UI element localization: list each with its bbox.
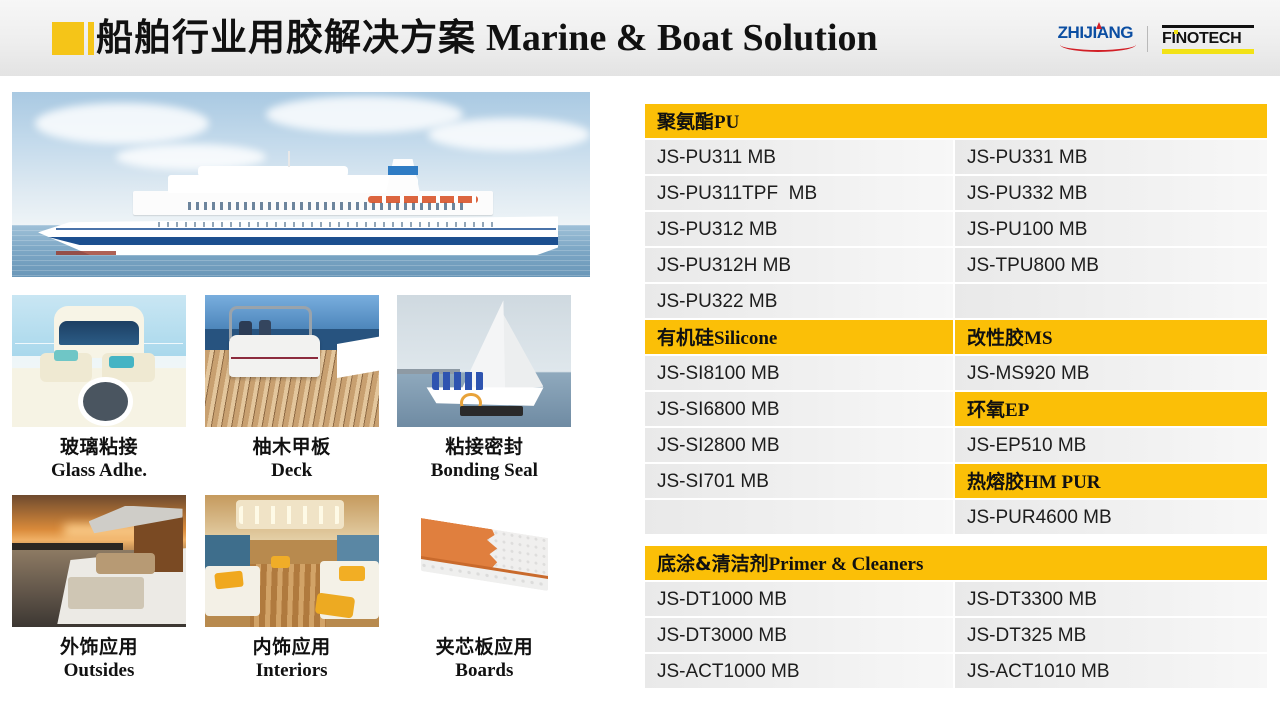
product-cell: JS-EP510 MB	[955, 428, 1267, 464]
section-header-cn: 环氧	[967, 399, 1005, 421]
zhijiang-logo-swoosh-icon	[1060, 37, 1136, 52]
thumbnail-yacht-foredeck-glass-windshield	[12, 295, 186, 427]
application-caption: 柚木甲板 Deck	[205, 427, 379, 483]
section-header-en: HM PUR	[1024, 472, 1101, 493]
product-cell: JS-SI6800 MB	[645, 392, 955, 428]
product-cell: JS-DT325 MB	[955, 618, 1267, 654]
table-section-gap	[645, 536, 1267, 546]
application-item-outsides[interactable]: 外饰应用 Outsides	[12, 495, 205, 683]
page-title: 船舶行业用胶解决方案 Marine & Boat Solution	[96, 14, 878, 62]
application-row-top: 玻璃粘接 Glass Adhe. 柚木甲板 Deck	[12, 295, 590, 483]
table-row: JS-SI6800 MB 环氧EP	[645, 392, 1267, 428]
application-caption: 粘接密封 Bonding Seal	[397, 427, 571, 483]
ship-superstructure-2	[168, 175, 418, 193]
application-caption-cn: 粘接密封	[397, 435, 571, 459]
thumbnail-sailboat-with-crew	[397, 295, 571, 427]
table-row: JS-PUR4600 MB	[645, 500, 1267, 536]
finotech-logo-dot-icon	[1174, 30, 1178, 34]
application-caption: 外饰应用 Outsides	[12, 627, 186, 683]
table-row: JS-ACT1000 MB JS-ACT1010 MB	[645, 654, 1267, 690]
product-cell: JS-DT3300 MB	[955, 582, 1267, 618]
table-row: JS-SI701 MB 热熔胶HM PUR	[645, 464, 1267, 500]
hero-cloud	[428, 118, 590, 151]
product-cell: JS-TPU800 MB	[955, 248, 1267, 284]
table-section-header-primer-cleaners: 底涂&清洁剂Primer & Cleaners	[645, 546, 1267, 582]
application-caption-cn: 内饰应用	[205, 635, 379, 659]
section-header-en: Silicone	[714, 328, 777, 349]
zhijiang-logo-tick-icon	[1096, 22, 1102, 29]
product-cell: JS-PU100 MB	[955, 212, 1267, 248]
ship-hull-stripe	[38, 237, 558, 245]
table-row: JS-PU312 MB JS-PU100 MB	[645, 212, 1267, 248]
product-cell: JS-DT1000 MB	[645, 582, 955, 618]
ship-bridge	[198, 166, 348, 177]
section-header-cell-ep: 环氧EP	[955, 392, 1267, 428]
application-caption-en: Bonding Seal	[397, 459, 571, 483]
section-header-en: EP	[1005, 400, 1029, 421]
page-title-en: Marine & Boat Solution	[486, 17, 878, 59]
application-caption-cn: 柚木甲板	[205, 435, 379, 459]
ship-windows	[188, 202, 468, 210]
ship-hull	[38, 213, 558, 255]
application-item-boards[interactable]: 夹芯板应用 Boards	[397, 495, 590, 683]
section-header-en: PU	[714, 112, 739, 133]
section-header-cn: 热熔胶	[967, 471, 1024, 493]
section-header-cell: 底涂&清洁剂Primer & Cleaners	[645, 546, 1267, 582]
ship-keel	[56, 251, 116, 255]
table-row: JS-DT1000 MB JS-DT3300 MB	[645, 582, 1267, 618]
application-gallery: 玻璃粘接 Glass Adhe. 柚木甲板 Deck	[12, 295, 590, 683]
ship-funnel-band	[388, 166, 418, 175]
product-cell: JS-PU322 MB	[645, 284, 955, 320]
section-header-cell: 有机硅Silicone	[645, 320, 955, 356]
thumbnail-composite-sandwich-panel	[397, 495, 571, 627]
table-row: JS-PU311 MB JS-PU331 MB	[645, 140, 1267, 176]
table-row: JS-SI2800 MB JS-EP510 MB	[645, 428, 1267, 464]
page-title-cn: 船舶行业用胶解决方案	[96, 16, 476, 59]
product-cell: JS-SI8100 MB	[645, 356, 955, 392]
application-caption-cn: 夹芯板应用	[397, 635, 571, 659]
finotech-logo-underline	[1162, 49, 1254, 54]
ship-lifeboats	[368, 196, 478, 203]
application-caption-en: Outsides	[12, 659, 186, 683]
section-header-cell: 改性胶MS	[955, 320, 1267, 356]
logo-divider	[1147, 26, 1148, 52]
section-header-cn: 底涂&清洁剂	[657, 553, 769, 575]
application-item-glass-adhesive[interactable]: 玻璃粘接 Glass Adhe.	[12, 295, 205, 483]
zhijiang-logo: ZHIJIANG	[1058, 24, 1133, 54]
section-header-cn: 改性胶	[967, 327, 1024, 349]
left-column: 玻璃粘接 Glass Adhe. 柚木甲板 Deck	[12, 92, 590, 683]
thumbnail-yacht-interior-salon	[205, 495, 379, 627]
table-row: JS-PU311TPF MB JS-PU332 MB	[645, 176, 1267, 212]
table-row: JS-SI8100 MB JS-MS920 MB	[645, 356, 1267, 392]
application-caption-en: Glass Adhe.	[12, 459, 186, 483]
application-caption: 内饰应用 Interiors	[205, 627, 379, 683]
slide-header: 船舶行业用胶解决方案 Marine & Boat Solution ZHIJIA…	[0, 0, 1280, 76]
application-caption: 夹芯板应用 Boards	[397, 627, 571, 683]
product-cell: JS-ACT1000 MB	[645, 654, 955, 690]
product-cell: JS-PU332 MB	[955, 176, 1267, 212]
table-section-header-pu: 聚氨酯PU	[645, 104, 1267, 140]
application-caption-en: Boards	[397, 659, 571, 683]
product-cell: JS-PU312 MB	[645, 212, 955, 248]
section-header-en: MS	[1024, 328, 1053, 349]
application-item-bonding-seal[interactable]: 粘接密封 Bonding Seal	[397, 295, 590, 483]
product-cell: JS-DT3000 MB	[645, 618, 955, 654]
product-cell-empty	[645, 500, 955, 536]
hero-cloud	[35, 103, 208, 144]
title-accent-mark	[52, 22, 94, 55]
ship-funnel	[386, 159, 420, 193]
product-cell: JS-MS920 MB	[955, 356, 1267, 392]
application-item-deck[interactable]: 柚木甲板 Deck	[205, 295, 398, 483]
accent-bar	[88, 22, 94, 55]
product-table: 聚氨酯PU JS-PU311 MB JS-PU331 MB JS-PU311TP…	[645, 104, 1267, 690]
thumbnail-teak-deck-boat-cockpit	[205, 295, 379, 427]
application-caption-en: Interiors	[205, 659, 379, 683]
product-cell: JS-ACT1010 MB	[955, 654, 1267, 690]
product-cell: JS-SI2800 MB	[645, 428, 955, 464]
application-caption: 玻璃粘接 Glass Adhe.	[12, 427, 186, 483]
accent-block	[52, 22, 84, 55]
application-row-bottom: 外饰应用 Outsides 内饰应用 Interiors	[12, 495, 590, 683]
brand-logos: ZHIJIANG FINOTECH	[1058, 24, 1254, 54]
table-row: JS-PU322 MB	[645, 284, 1267, 320]
ship-hull-line	[56, 228, 556, 230]
product-cell: JS-PU312H MB	[645, 248, 955, 284]
section-header-cell: 聚氨酯PU	[645, 104, 1267, 140]
application-caption-cn: 外饰应用	[12, 635, 186, 659]
ship-mast	[288, 151, 290, 167]
product-cell: JS-PU311TPF MB	[645, 176, 955, 212]
table-row: JS-DT3000 MB JS-DT325 MB	[645, 618, 1267, 654]
product-cell: JS-SI701 MB	[645, 464, 955, 500]
finotech-logo-topline	[1162, 25, 1254, 28]
ship-lower-windows	[158, 222, 498, 227]
application-caption-en: Deck	[205, 459, 379, 483]
product-cell: JS-PU311 MB	[645, 140, 955, 176]
product-cell-empty	[955, 284, 1267, 320]
section-header-en: Primer & Cleaners	[769, 554, 924, 575]
section-header-cell-hm-pur: 热熔胶HM PUR	[955, 464, 1267, 500]
table-row: JS-PU312H MB JS-TPU800 MB	[645, 248, 1267, 284]
product-cell: JS-PU331 MB	[955, 140, 1267, 176]
section-header-cn: 聚氨酯	[657, 111, 714, 133]
table-section-header-silicone-ms: 有机硅Silicone 改性胶MS	[645, 320, 1267, 356]
application-caption-cn: 玻璃粘接	[12, 435, 186, 459]
section-header-cn: 有机硅	[657, 327, 714, 349]
hero-ship	[38, 159, 558, 255]
finotech-logo: FINOTECH	[1162, 25, 1254, 54]
product-cell: JS-PUR4600 MB	[955, 500, 1267, 536]
hero-ship-image	[12, 92, 590, 277]
thumbnail-boat-cockpit-at-sunset	[12, 495, 186, 627]
application-item-interiors[interactable]: 内饰应用 Interiors	[205, 495, 398, 683]
